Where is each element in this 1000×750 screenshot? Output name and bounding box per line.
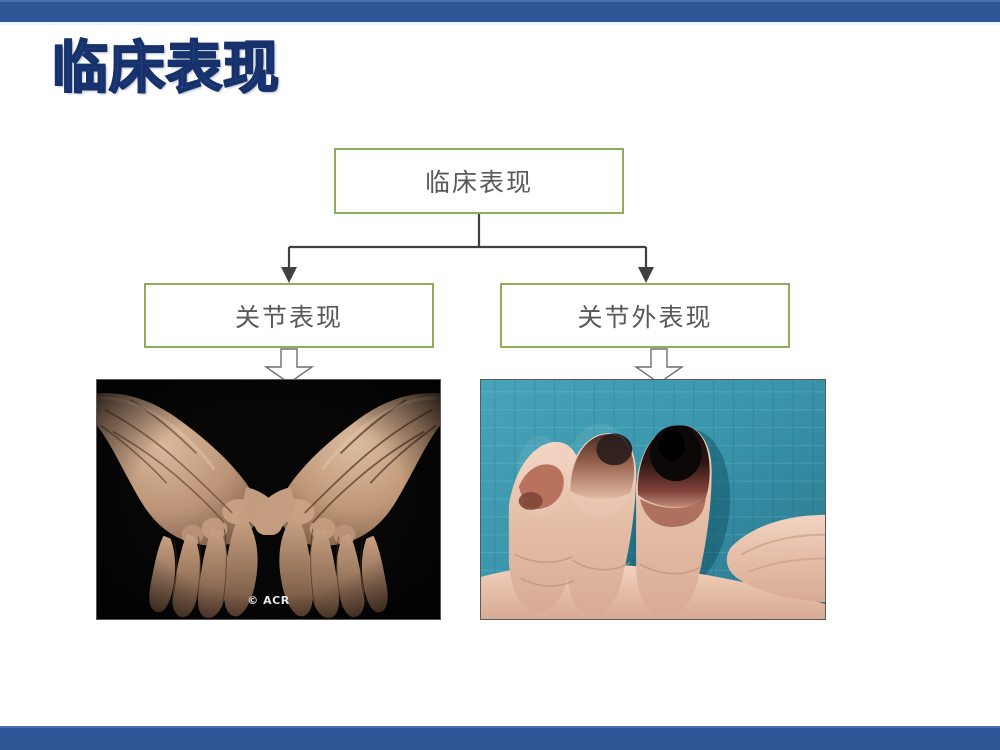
flowchart-node-extra-articular-label: 关节外表现 <box>577 298 712 334</box>
page-title: 临床表现 <box>52 38 280 100</box>
extra-articular-manifestation-photo <box>480 379 826 620</box>
flowchart-node-extra-articular[interactable]: 关节外表现 <box>500 283 790 348</box>
flowchart-node-root-label: 临床表现 <box>425 163 533 199</box>
bottom-accent-bar <box>0 726 1000 750</box>
flowchart-node-joint[interactable]: 关节表现 <box>144 283 434 348</box>
slide: 临床表现 临床表现 关节表现 关节外表现 <box>0 0 1000 750</box>
bottom-bar-fill <box>0 728 1000 750</box>
flowchart-node-root[interactable]: 临床表现 <box>334 148 624 214</box>
flowchart-connector <box>144 214 804 284</box>
top-bar-underline <box>0 22 1000 25</box>
top-bar-fill <box>0 2 1000 22</box>
top-accent-bar <box>0 0 1000 26</box>
joint-manifestation-photo: © ACR <box>96 379 441 620</box>
flowchart-node-joint-label: 关节表现 <box>235 298 343 334</box>
